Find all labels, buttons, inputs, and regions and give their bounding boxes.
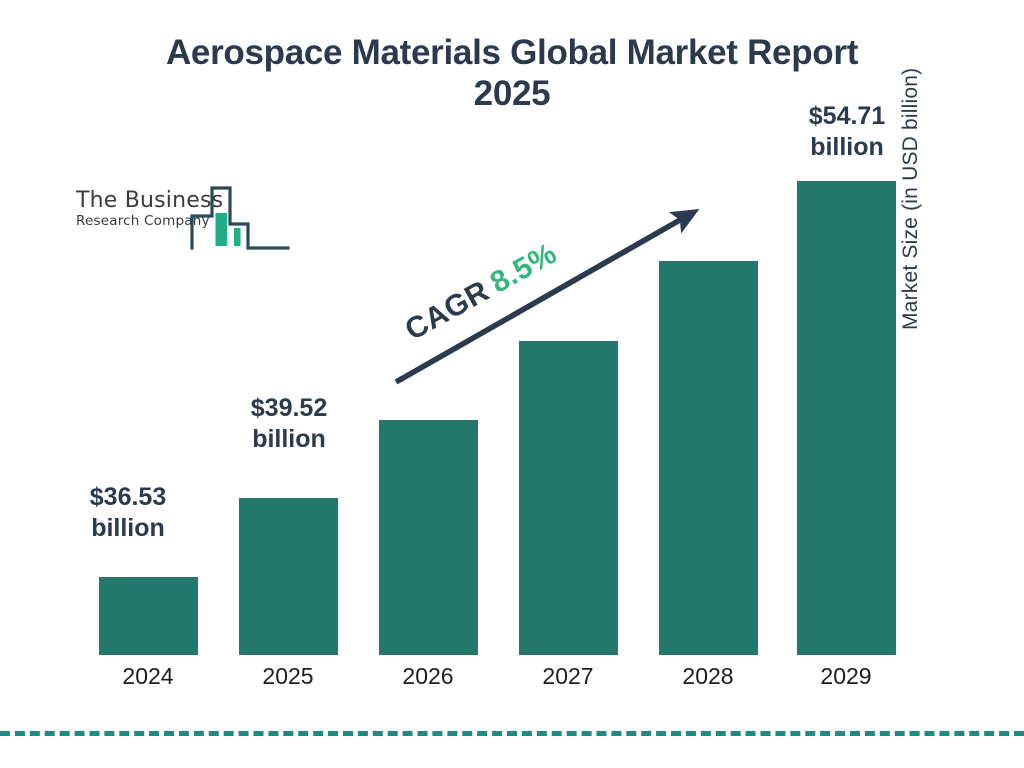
- x-axis-tick-2026: 2026: [368, 663, 488, 690]
- bar-value-label-2024: $36.53 billion: [54, 482, 202, 543]
- bar-value-label-2024-unit: billion: [54, 513, 202, 544]
- cagr-annotation-label: CAGR: [400, 274, 495, 347]
- cagr-annotation-value: 8.5%: [485, 237, 563, 300]
- x-axis-tick-2024: 2024: [88, 663, 208, 690]
- bar-2029[interactable]: [797, 181, 896, 655]
- cagr-annotation: CAGR8.5%: [400, 237, 563, 348]
- bar-value-label-2025: $39.52 billion: [215, 393, 363, 454]
- x-axis-tick-2025: 2025: [228, 663, 348, 690]
- plot-area: $36.53 billion $39.52 billion $54.71 bil…: [0, 0, 1024, 768]
- y-axis-title: Market Size (in USD billion): [899, 10, 923, 330]
- footer-divider: [0, 731, 1024, 736]
- bar-value-label-2025-amount: $39.52: [215, 393, 363, 424]
- bar-2025[interactable]: [239, 498, 338, 655]
- bar-2026[interactable]: [379, 420, 478, 655]
- x-axis-tick-2028: 2028: [648, 663, 768, 690]
- bar-2024[interactable]: [99, 577, 198, 655]
- bar-2028[interactable]: [659, 261, 758, 655]
- chart-canvas: Aerospace Materials Global Market Report…: [0, 0, 1024, 768]
- bar-2027[interactable]: [519, 341, 618, 655]
- x-axis-tick-2027: 2027: [508, 663, 628, 690]
- bar-value-label-2024-amount: $36.53: [54, 482, 202, 513]
- x-axis-tick-2029: 2029: [786, 663, 906, 690]
- bar-value-label-2025-unit: billion: [215, 424, 363, 455]
